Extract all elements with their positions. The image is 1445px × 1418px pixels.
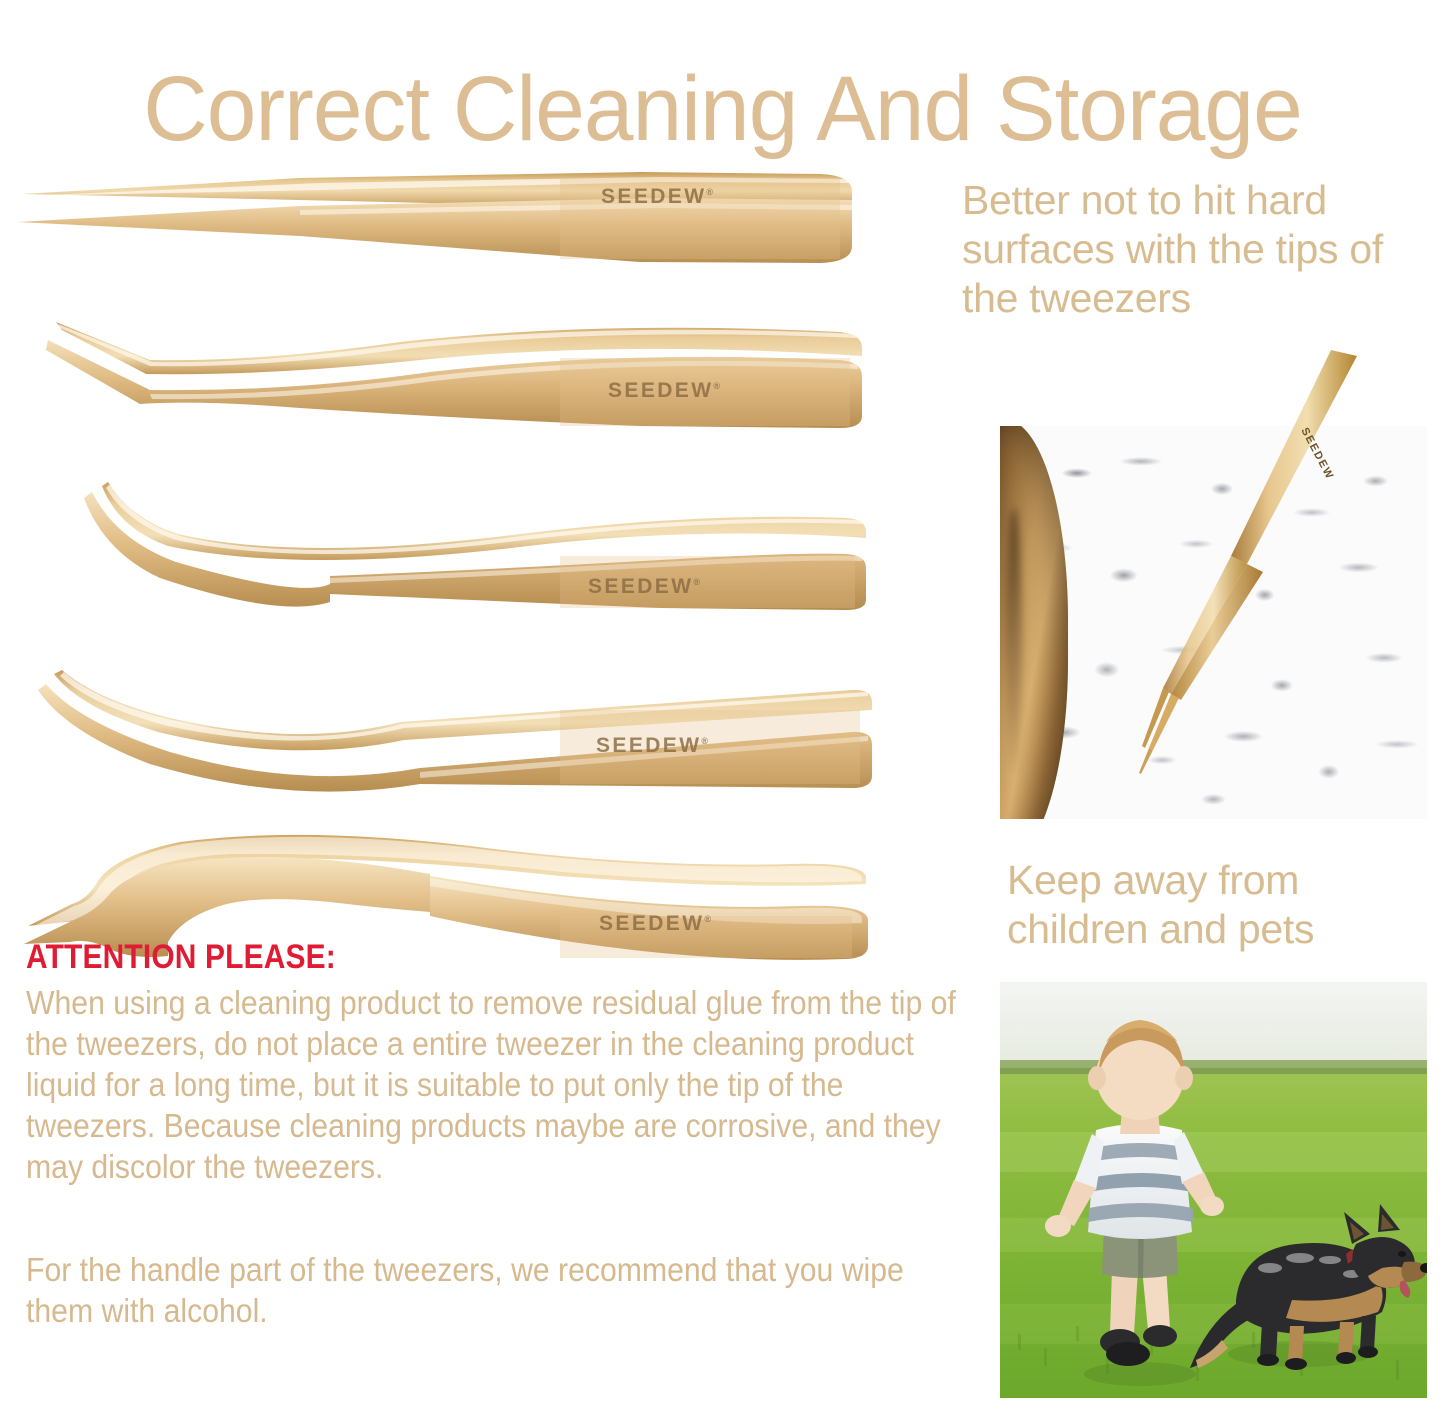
brand-label: SEEDEW® bbox=[588, 575, 700, 599]
callout-children-pets: Keep away from children and pets bbox=[1007, 856, 1437, 954]
product-showcase-column: SEEDEW® bbox=[0, 150, 945, 1418]
tweezer-curved-illustration bbox=[0, 468, 900, 618]
guidance-column: Better not to hit hard surfaces with the… bbox=[955, 150, 1445, 1418]
brand-label: SEEDEW® bbox=[599, 912, 711, 936]
brand-label: SEEDEW® bbox=[601, 185, 713, 209]
tweezer-angled-illustration bbox=[0, 296, 900, 446]
tweezer-item-2: SEEDEW® bbox=[0, 296, 900, 446]
attention-paragraph-2: For the handle part of the tweezers, we … bbox=[26, 1249, 973, 1331]
tweezer-item-1: SEEDEW® bbox=[0, 150, 900, 300]
tweezer-item-3: SEEDEW® bbox=[0, 468, 900, 618]
tweezer-taper-illustration bbox=[0, 648, 900, 798]
marble-photo-block: SEEDEW bbox=[955, 350, 1445, 830]
callout-hard-surfaces: Better not to hit hard surfaces with the… bbox=[962, 176, 1442, 323]
tweezer-straight-illustration bbox=[0, 150, 900, 300]
page-title: Correct Cleaning And Storage bbox=[22, 58, 1424, 161]
photo-child-and-dog bbox=[1000, 982, 1427, 1398]
brand-label: SEEDEW® bbox=[596, 734, 708, 758]
attention-paragraph-1: When using a cleaning product to remove … bbox=[26, 982, 973, 1187]
photo-tweezer-on-marble bbox=[1000, 426, 1427, 819]
attention-section: ATTENTION PLEASE: When using a cleaning … bbox=[26, 938, 976, 1331]
brand-label: SEEDEW® bbox=[608, 379, 720, 403]
child-and-dog-scene bbox=[1000, 982, 1427, 1398]
attention-heading: ATTENTION PLEASE: bbox=[26, 938, 862, 976]
tweezer-item-4: SEEDEW® bbox=[0, 648, 900, 798]
